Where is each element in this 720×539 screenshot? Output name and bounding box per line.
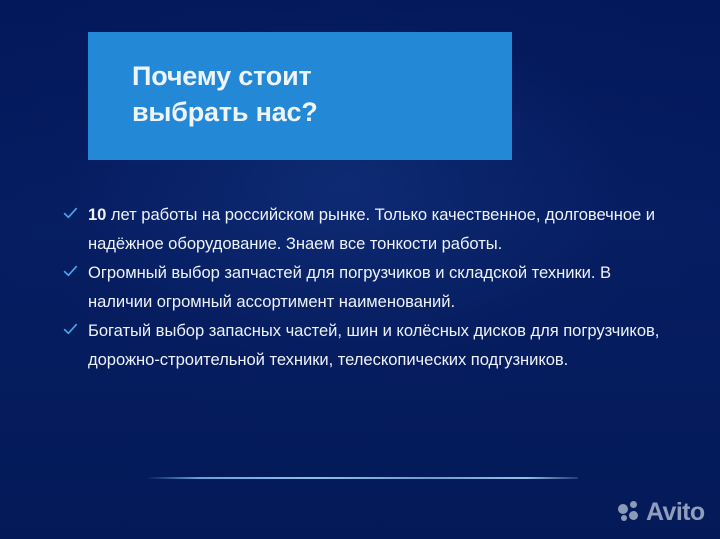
- check-icon: [63, 206, 78, 221]
- list-item-text: Огромный выбор запчастей для погрузчиков…: [88, 263, 611, 311]
- check-icon: [63, 264, 78, 279]
- list-item-text: лет работы на российском рынке. Только к…: [88, 205, 655, 253]
- avito-watermark: Avito: [618, 497, 705, 527]
- list-item: Богатый выбор запасных частей, шин и кол…: [62, 316, 662, 374]
- list-item-lead: 10: [88, 205, 106, 224]
- list-item: Огромный выбор запчастей для погрузчиков…: [62, 258, 662, 316]
- benefits-list: 10 лет работы на российском рынке. Тольк…: [62, 200, 662, 374]
- title-banner: Почему стоит выбрать нас?: [88, 32, 512, 160]
- avito-dots-icon: [618, 501, 644, 523]
- list-item-text: Богатый выбор запасных частей, шин и кол…: [88, 321, 659, 369]
- check-icon: [63, 322, 78, 337]
- slide-canvas: Почему стоит выбрать нас? 10 лет работы …: [0, 0, 720, 539]
- avito-wordmark: Avito: [646, 500, 705, 525]
- list-item: 10 лет работы на российском рынке. Тольк…: [62, 200, 662, 258]
- divider: [148, 477, 578, 479]
- page-title: Почему стоит выбрать нас?: [132, 58, 492, 130]
